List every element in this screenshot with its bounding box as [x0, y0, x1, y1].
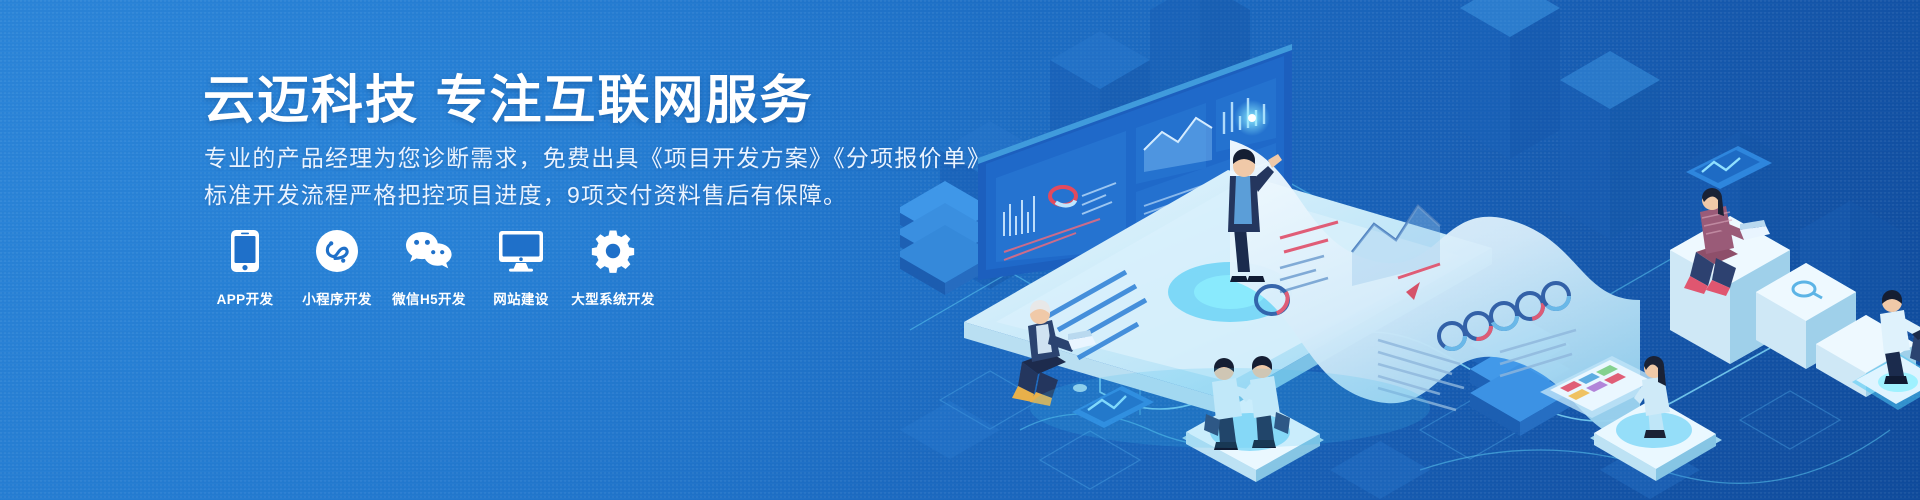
isometric-illustration	[900, 0, 1920, 500]
service-label: APP开发	[217, 288, 274, 308]
service-list: APP开发 小程序开发	[206, 228, 652, 308]
hero-banner: 云迈科技 专注互联网服务 专业的产品经理为您诊断需求，免费出具《项目开发方案》《…	[0, 0, 1920, 500]
gear-icon	[591, 228, 635, 274]
service-item-mini-program[interactable]: 小程序开发	[298, 228, 376, 308]
banner-content: 云迈科技 专注互联网服务 专业的产品经理为您诊断需求，免费出具《项目开发方案》《…	[203, 0, 983, 500]
subtitle-line-1: 专业的产品经理为您诊断需求，免费出具《项目开发方案》《分项报价单》	[204, 147, 991, 170]
subtitle-line-2: 标准开发流程严格把控项目进度，9项交付资料售后有保障。	[204, 184, 847, 207]
wechat-icon	[405, 228, 453, 274]
service-label: 大型系统开发	[571, 288, 654, 308]
service-label: 微信H5开发	[392, 288, 466, 308]
service-item-wechat[interactable]: 微信H5开发	[390, 228, 468, 308]
service-label: 网站建设	[493, 288, 549, 308]
mini-program-icon	[315, 228, 359, 274]
service-label: 小程序开发	[302, 288, 372, 308]
page-title: 云迈科技 专注互联网服务	[203, 72, 813, 132]
service-item-large-system[interactable]: 大型系统开发	[574, 228, 652, 308]
service-item-app[interactable]: APP开发	[206, 228, 284, 308]
monitor-icon	[498, 228, 544, 274]
service-item-website[interactable]: 网站建设	[482, 228, 560, 308]
mobile-phone-icon	[230, 228, 260, 274]
